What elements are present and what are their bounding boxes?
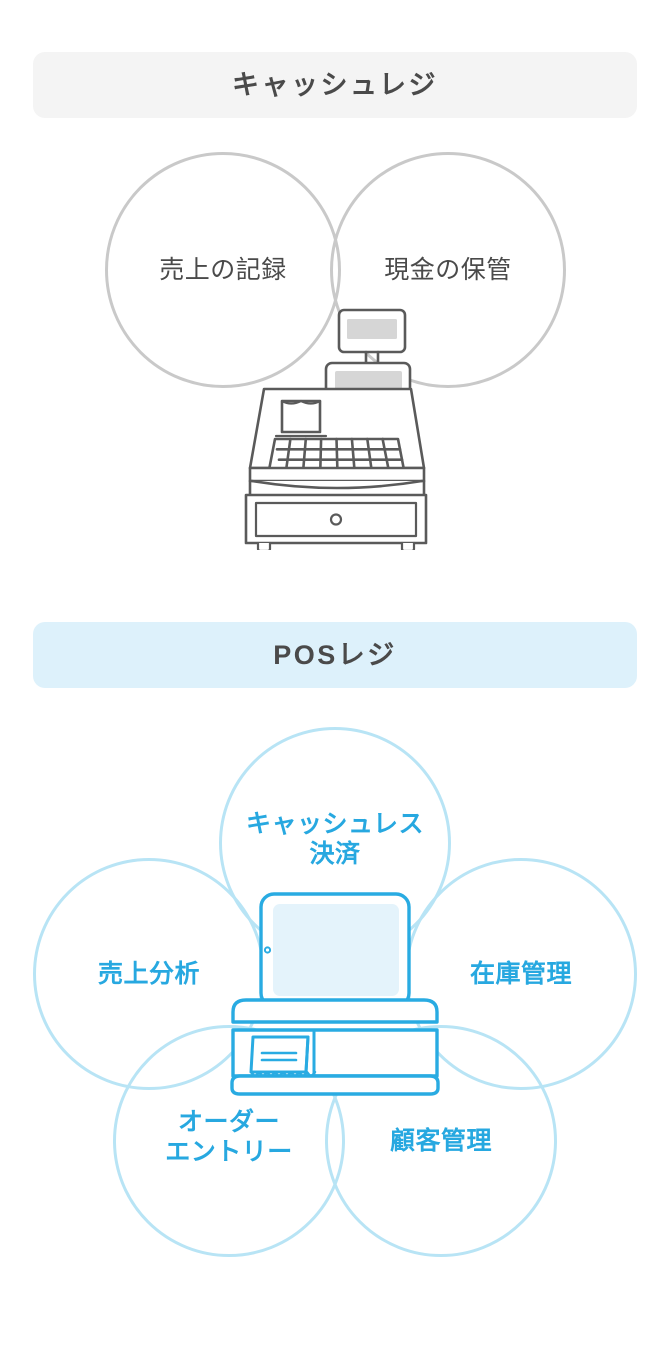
cash-register-header-title: キャッシュレジ (232, 72, 438, 99)
pos-register-section: POSレジ キャッシュレス 決済 売上分析 在庫管理 オーダー エントリー 顧客… (0, 600, 670, 1364)
circle-label-cash-storage: 現金の保管 (384, 255, 512, 286)
pos-register-header-title: POSレジ (273, 642, 397, 669)
pos-terminal-icon (210, 890, 460, 1120)
circle-label-cashless-payment: キャッシュレス 決済 (246, 809, 424, 870)
circle-label-sales-record: 売上の記録 (159, 255, 287, 286)
cash-register-header-bar: キャッシュレジ (33, 52, 637, 118)
pos-register-header-bar: POSレジ (33, 622, 637, 688)
circle-label-sales-analysis: 売上分析 (98, 959, 200, 990)
circle-label-inventory-management: 在庫管理 (470, 959, 572, 990)
cash-register-icon (228, 305, 443, 550)
cash-register-section: キャッシュレジ 売上の記録 現金の保管 (0, 0, 670, 600)
circle-label-customer-management: 顧客管理 (390, 1126, 492, 1157)
